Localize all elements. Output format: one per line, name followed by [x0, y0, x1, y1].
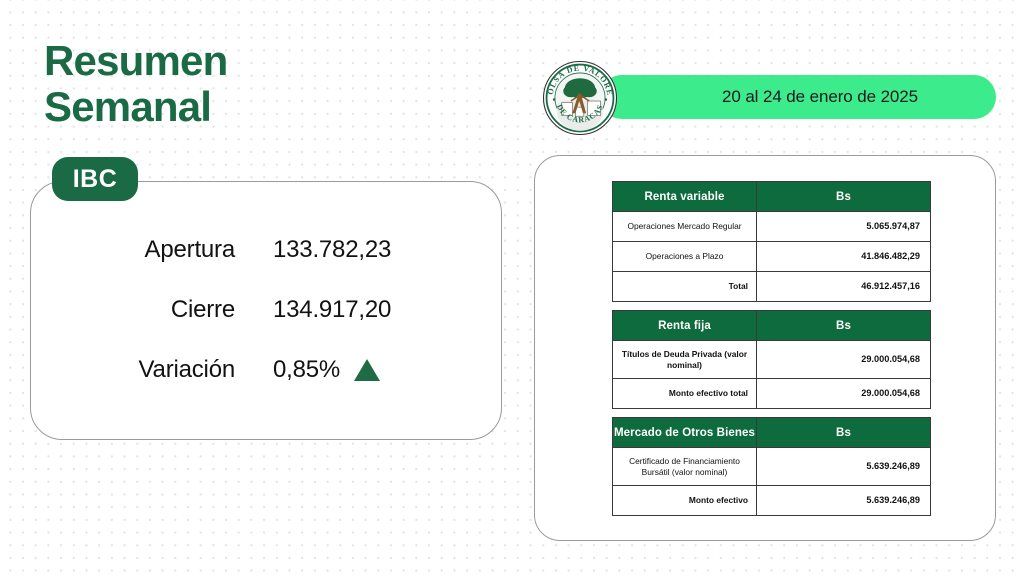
- table-column-header: Renta fija: [613, 311, 757, 341]
- table-row: Operaciones a Plazo41.846.482,29: [613, 242, 931, 272]
- table-mercado-de-otros-bienes: Mercado de Otros BienesBsCertificado de …: [612, 417, 931, 516]
- table-cell-value: 5.639.246,89: [757, 448, 931, 486]
- table-cell-label: Operaciones a Plazo: [613, 242, 757, 272]
- table-cell-label: Títulos de Deuda Privada (valor nominal): [613, 341, 757, 379]
- table-header-row: Renta fijaBs: [613, 311, 931, 341]
- tables-container: Renta variableBsOperaciones Mercado Regu…: [612, 181, 930, 516]
- slide-canvas: Resumen Semanal IBC Apertura133.782,23Ci…: [0, 0, 1024, 576]
- ibc-row: Apertura133.782,23: [30, 233, 502, 267]
- table-renta-fija: Renta fijaBsTítulos de Deuda Privada (va…: [612, 310, 931, 409]
- ibc-row-number: 0,85%: [273, 356, 340, 384]
- ibc-row-label: Apertura: [30, 236, 235, 264]
- table-renta-variable: Renta variableBsOperaciones Mercado Regu…: [612, 181, 931, 302]
- ibc-badge: IBC: [52, 157, 138, 201]
- table-cell-value: 46.912.457,16: [757, 272, 931, 302]
- date-range-banner: 20 al 24 de enero de 2025: [600, 75, 996, 119]
- ibc-row-value: 133.782,23: [273, 236, 391, 264]
- table-cell-value: 29.000.054,68: [757, 341, 931, 379]
- table-column-header: Bs: [757, 182, 931, 212]
- table-column-header: Mercado de Otros Bienes: [613, 418, 757, 448]
- table-row: Monto efectivo5.639.246,89: [613, 486, 931, 516]
- table-column-header: Bs: [757, 311, 931, 341]
- ibc-row-number: 133.782,23: [273, 236, 391, 264]
- ibc-row-value: 0,85%: [273, 356, 380, 384]
- trend-up-icon: [354, 359, 380, 381]
- bolsa-de-valores-de-caracas-logo-icon: BOLSA DE VALORES DE CARACAS: [542, 60, 618, 136]
- table-cell-value: 5.639.246,89: [757, 486, 931, 516]
- ibc-row-label: Variación: [30, 356, 235, 384]
- date-range-label: 20 al 24 de enero de 2025: [722, 87, 918, 107]
- page-title: Resumen Semanal: [44, 38, 227, 130]
- table-column-header: Bs: [757, 418, 931, 448]
- table-row: Certificado de Financiamiento Bursátil (…: [613, 448, 931, 486]
- table-cell-label: Monto efectivo total: [613, 379, 757, 409]
- table-row: Monto efectivo total29.000.054,68: [613, 379, 931, 409]
- table-cell-value: 5.065.974,87: [757, 212, 931, 242]
- ibc-row: Variación0,85%: [30, 353, 502, 387]
- table-cell-value: 41.846.482,29: [757, 242, 931, 272]
- ibc-row: Cierre134.917,20: [30, 293, 502, 327]
- table-row: Operaciones Mercado Regular5.065.974,87: [613, 212, 931, 242]
- table-header-row: Renta variableBs: [613, 182, 931, 212]
- table-column-header: Renta variable: [613, 182, 757, 212]
- ibc-row-value: 134.917,20: [273, 296, 391, 324]
- table-cell-label: Operaciones Mercado Regular: [613, 212, 757, 242]
- table-header-row: Mercado de Otros BienesBs: [613, 418, 931, 448]
- table-cell-value: 29.000.054,68: [757, 379, 931, 409]
- ibc-row-number: 134.917,20: [273, 296, 391, 324]
- ibc-rows: Apertura133.782,23Cierre134.917,20Variac…: [30, 181, 502, 440]
- table-cell-label: Total: [613, 272, 757, 302]
- table-row: Títulos de Deuda Privada (valor nominal)…: [613, 341, 931, 379]
- table-cell-label: Certificado de Financiamiento Bursátil (…: [613, 448, 757, 486]
- table-cell-label: Monto efectivo: [613, 486, 757, 516]
- table-row: Total46.912.457,16: [613, 272, 931, 302]
- ibc-row-label: Cierre: [30, 296, 235, 324]
